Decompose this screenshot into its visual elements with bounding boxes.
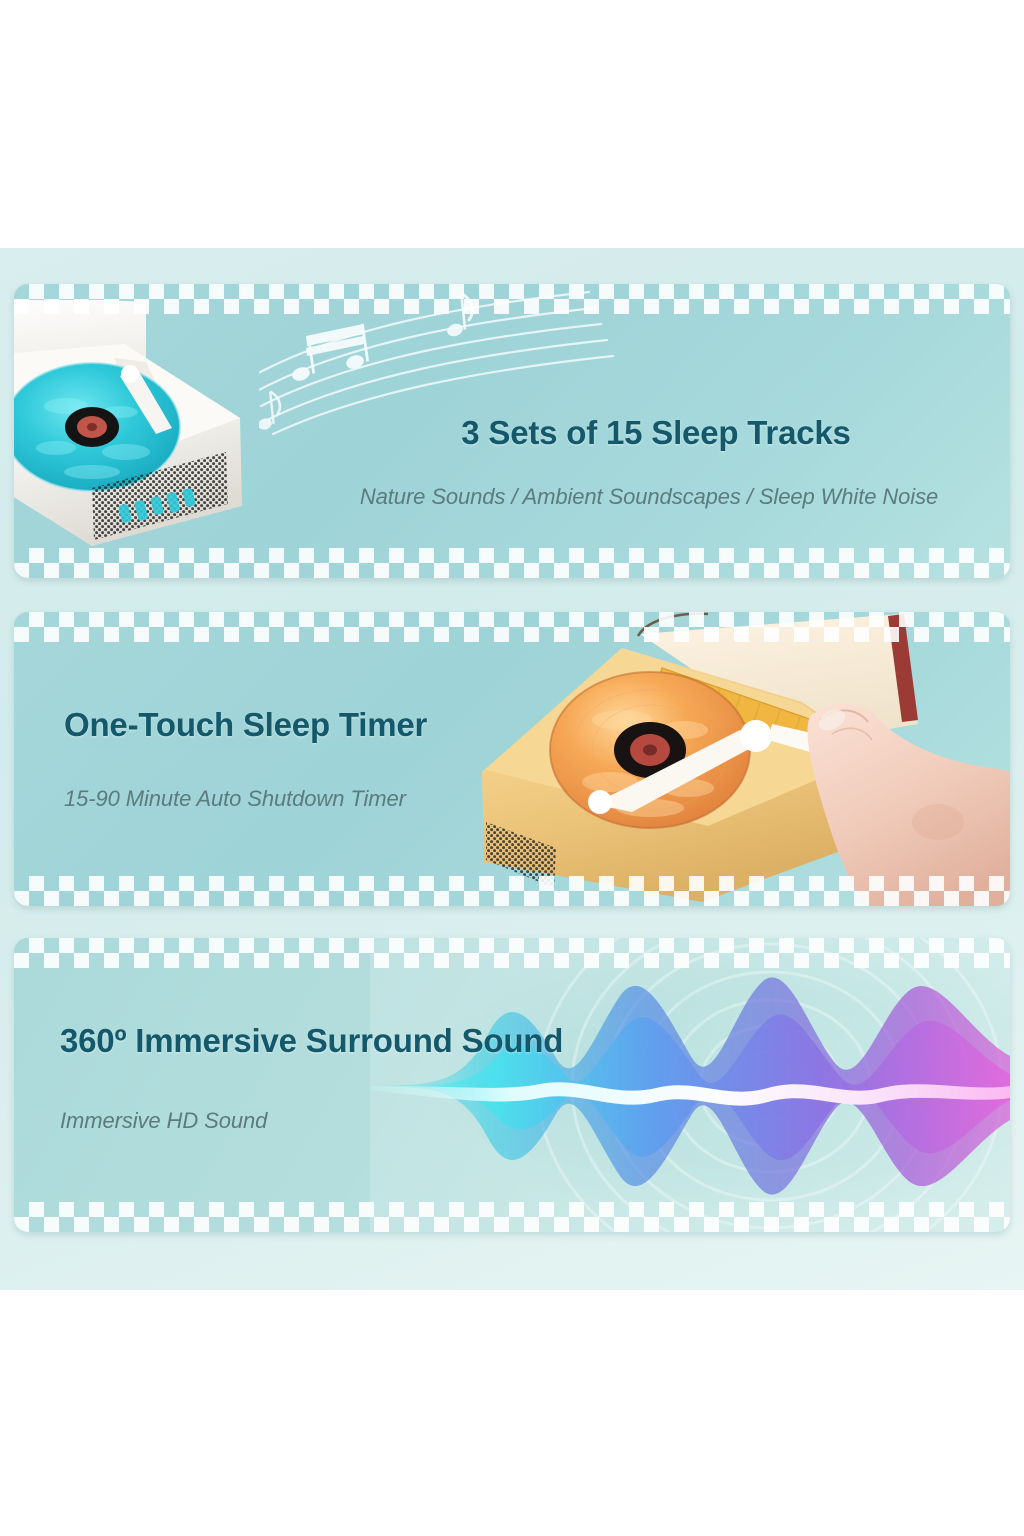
feature-panel-sleep-tracks: 3 Sets of 15 Sleep Tracks Nature Sounds … <box>14 284 1010 578</box>
panel-copy: One-Touch Sleep Timer 15-90 Minute Auto … <box>64 706 427 812</box>
checker-border-bottom <box>14 876 1010 906</box>
checker-border-top <box>14 612 1010 642</box>
feature-panel-sleep-timer: One-Touch Sleep Timer 15-90 Minute Auto … <box>14 612 1010 906</box>
panel-subline: Nature Sounds / Ambient Soundscapes / Sl… <box>304 484 994 510</box>
panel-copy: 3 Sets of 15 Sleep Tracks Nature Sounds … <box>304 414 994 510</box>
yellow-cd-player-image <box>472 612 1010 906</box>
checker-border-top <box>14 284 1010 314</box>
checker-border-top <box>14 938 1010 968</box>
checker-border-bottom <box>14 548 1010 578</box>
panel-subline: 15-90 Minute Auto Shutdown Timer <box>64 786 427 812</box>
infographic-canvas: 3 Sets of 15 Sleep Tracks Nature Sounds … <box>0 248 1024 1290</box>
checker-border-bottom <box>14 1202 1010 1232</box>
panel-headline: 360º Immersive Surround Sound <box>60 1022 563 1060</box>
panel-headline: 3 Sets of 15 Sleep Tracks <box>318 414 994 452</box>
panel-subline: Immersive HD Sound <box>60 1108 563 1134</box>
white-cd-player-image <box>14 300 286 568</box>
panel-copy: 360º Immersive Surround Sound Immersive … <box>60 1022 563 1134</box>
feature-panel-surround-sound: 360º Immersive Surround Sound Immersive … <box>14 938 1010 1232</box>
panel-headline: One-Touch Sleep Timer <box>64 706 427 744</box>
